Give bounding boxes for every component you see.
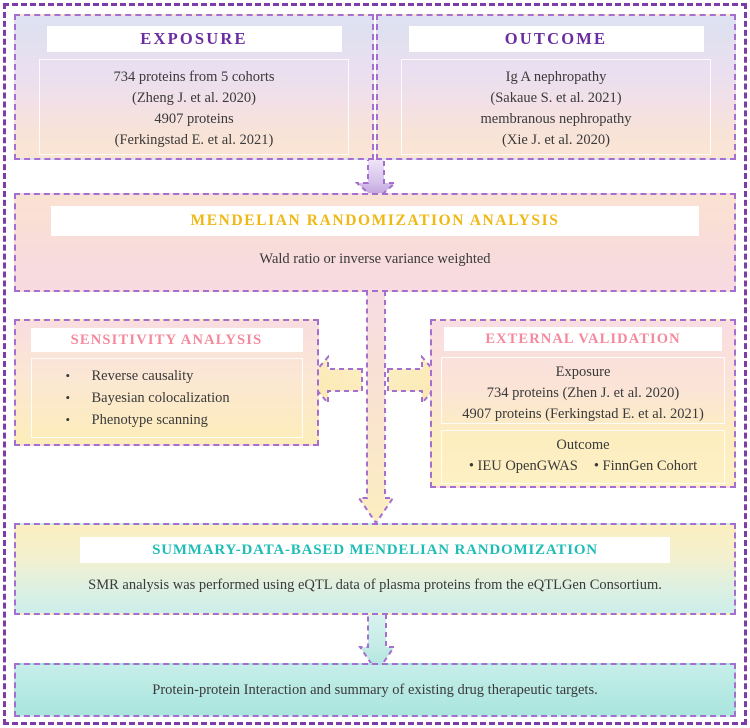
outcome-title: OUTCOME <box>505 29 607 48</box>
exposure-title-strip: EXPOSURE <box>47 26 342 52</box>
outcome-content-panel: Ig A nephropathy (Sakaue S. et al. 2021)… <box>401 59 711 155</box>
exposure-title: EXPOSURE <box>140 29 247 48</box>
list-item: Bayesian colocalization <box>66 387 302 409</box>
outcome-title-strip: OUTCOME <box>409 26 704 52</box>
external-exposure-line: 734 proteins (Zhen J. et al. 2020) <box>442 383 724 404</box>
exposure-line: (Ferkingstad E. et al. 2021) <box>40 130 348 151</box>
list-item: Phenotype scanning <box>66 409 302 431</box>
external-exposure-heading: Exposure <box>442 362 724 383</box>
sensitivity-title-strip: SENSITIVITY ANALYSIS <box>31 328 303 352</box>
external-outcome-panel: Outcome IEU OpenGWASFinnGen Cohort <box>441 430 725 484</box>
sensitivity-title: SENSITIVITY ANALYSIS <box>71 332 263 348</box>
outcome-line: (Xie J. et al. 2020) <box>402 130 710 151</box>
mr-subtitle: Wald ratio or inverse variance weighted <box>16 251 734 268</box>
sensitivity-content-panel: Reverse causality Bayesian colocalizatio… <box>31 358 303 438</box>
external-outcome-sources: IEU OpenGWASFinnGen Cohort <box>442 456 724 477</box>
arrow-mr-to-smr <box>357 290 395 531</box>
outcome-box: OUTCOME Ig A nephropathy (Sakaue S. et a… <box>376 14 736 160</box>
outcome-line: Ig A nephropathy <box>402 67 710 88</box>
exposure-line: (Zheng J. et al. 2020) <box>40 88 348 109</box>
external-exposure-line: 4907 proteins (Ferkingstad E. et al. 202… <box>442 404 724 425</box>
outcome-line: (Sakaue S. et al. 2021) <box>402 88 710 109</box>
ppi-summary-box: Protein-protein Interaction and summary … <box>14 663 736 717</box>
flowchart-canvas: EXPOSURE 734 proteins from 5 cohorts (Zh… <box>0 0 750 728</box>
smr-title: SUMMARY-DATA-BASED MENDELIAN RANDOMIZATI… <box>152 542 598 558</box>
external-outcome-heading: Outcome <box>442 435 724 456</box>
outcome-line: membranous nephropathy <box>402 109 710 130</box>
smr-subtitle: SMR analysis was performed using eQTL da… <box>16 577 734 594</box>
exposure-box: EXPOSURE 734 proteins from 5 cohorts (Zh… <box>14 14 374 160</box>
external-validation-box: EXTERNAL VALIDATION Exposure 734 protein… <box>430 319 736 488</box>
sensitivity-list: Reverse causality Bayesian colocalizatio… <box>32 365 302 431</box>
smr-title-strip: SUMMARY-DATA-BASED MENDELIAN RANDOMIZATI… <box>80 537 670 563</box>
sensitivity-analysis-box: SENSITIVITY ANALYSIS Reverse causality B… <box>14 319 319 446</box>
external-outcome-source: FinnGen Cohort <box>594 458 697 474</box>
ppi-text: Protein-protein Interaction and summary … <box>16 682 734 699</box>
mr-title: MENDELIAN RANDOMIZATION ANALYSIS <box>190 212 559 229</box>
down-arrow-icon <box>357 290 395 526</box>
smr-box: SUMMARY-DATA-BASED MENDELIAN RANDOMIZATI… <box>14 523 736 615</box>
exposure-line: 4907 proteins <box>40 109 348 130</box>
external-validation-title-strip: EXTERNAL VALIDATION <box>444 327 722 351</box>
list-item: Reverse causality <box>66 365 302 387</box>
external-validation-title: EXTERNAL VALIDATION <box>485 331 680 347</box>
exposure-line: 734 proteins from 5 cohorts <box>40 67 348 88</box>
mr-title-strip: MENDELIAN RANDOMIZATION ANALYSIS <box>51 206 699 236</box>
mendelian-randomization-box: MENDELIAN RANDOMIZATION ANALYSIS Wald ra… <box>14 193 736 292</box>
exposure-content-panel: 734 proteins from 5 cohorts (Zheng J. et… <box>39 59 349 155</box>
external-exposure-panel: Exposure 734 proteins (Zhen J. et al. 20… <box>441 357 725 424</box>
external-outcome-source: IEU OpenGWAS <box>469 458 578 474</box>
